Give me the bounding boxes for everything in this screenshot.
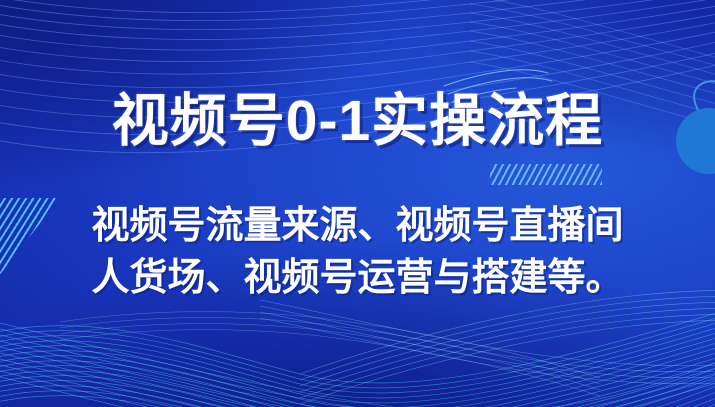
subtitle-line-2: 人货场、视频号运营与搭建等。 xyxy=(0,253,715,305)
title-block: 视频号0-1实操流程 xyxy=(0,92,715,150)
course-cover-banner: 视频号0-1实操流程 视频号流量来源、视频号直播间 人货场、视频号运营与搭建等。 xyxy=(0,0,715,407)
subtitle-line-1: 视频号流量来源、视频号直播间 xyxy=(0,201,715,253)
page-title: 视频号0-1实操流程 xyxy=(112,92,603,150)
subtitle-block: 视频号流量来源、视频号直播间 人货场、视频号运营与搭建等。 xyxy=(0,201,715,304)
title-stripe-band-decoration xyxy=(490,164,602,185)
